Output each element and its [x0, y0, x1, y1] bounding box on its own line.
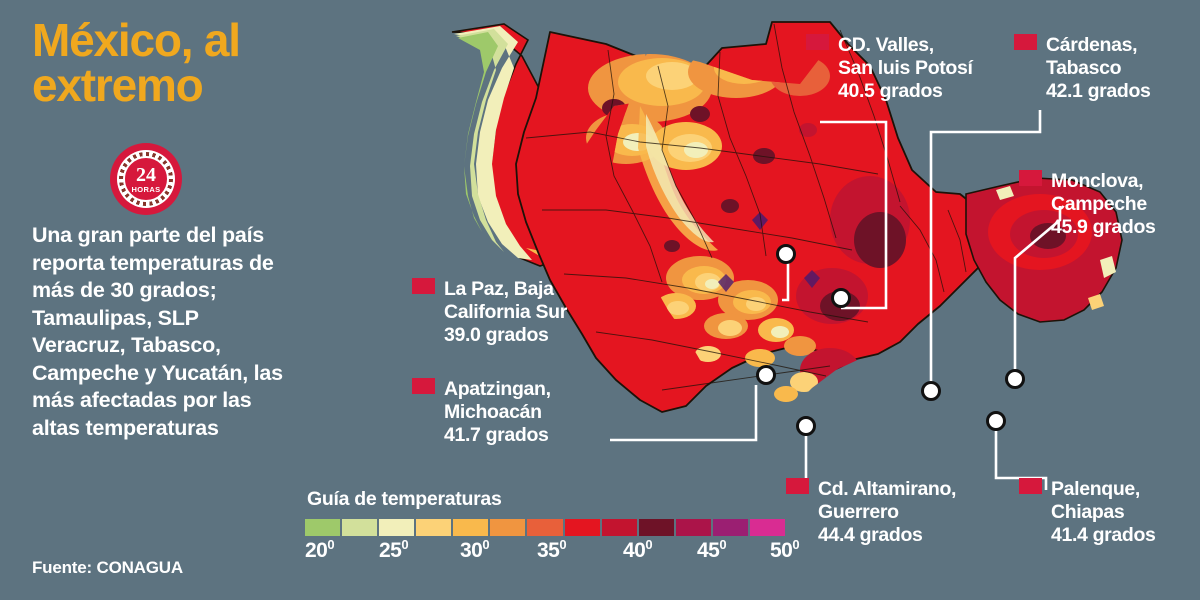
callout-line-2: 41.7 grados — [444, 424, 551, 447]
callout-cd-altamirano: Cd. Altamirano,Guerrero44.4 grados — [786, 478, 956, 546]
marker-la-paz[interactable] — [776, 244, 796, 264]
callout-line-2: 42.1 grados — [1046, 80, 1151, 103]
callout-line-2: 40.5 grados — [838, 80, 973, 103]
legend-tick-50: 500 — [770, 537, 799, 563]
logo-core: 24 HORAS — [123, 156, 169, 202]
callout-line-0: Cárdenas, — [1046, 34, 1137, 57]
callout-apatzingan: Apatzingan,Michoacán41.7 grados — [412, 378, 551, 446]
legend-swatch-1 — [342, 519, 377, 536]
callout-swatch-icon — [786, 478, 809, 494]
callout-swatch-icon — [1014, 34, 1037, 50]
page-title: México, al extremo — [32, 18, 297, 108]
callout-swatch-icon — [412, 378, 435, 394]
callout-cardenas: Cárdenas,Tabasco42.1 grados — [1014, 34, 1151, 102]
callout-line-0: Palenque, — [1051, 478, 1140, 501]
callout-line-0: Cd. Altamirano, — [818, 478, 956, 501]
marker-palenque[interactable] — [986, 411, 1006, 431]
callout-line-2: 44.4 grados — [818, 524, 956, 547]
legend-tick-45: 450 — [697, 537, 726, 563]
left-panel: México, al extremo 24 HORAS Una gran par… — [0, 0, 300, 600]
callout-line-2: 41.4 grados — [1051, 524, 1156, 547]
callout-la-paz: La Paz, BajaCalifornia Sur39.0 grados — [412, 278, 567, 346]
legend-swatch-6 — [527, 519, 562, 536]
legend-swatch-9 — [639, 519, 674, 536]
infographic-root: México, al extremo 24 HORAS Una gran par… — [0, 0, 1200, 600]
callout-line-0: Apatzingan, — [444, 378, 551, 401]
callout-line-1: California Sur — [444, 301, 567, 324]
marker-monclova[interactable] — [1005, 369, 1025, 389]
marker-cd-altamirano[interactable] — [796, 416, 816, 436]
callout-palenque: Palenque,Chiapas41.4 grados — [1019, 478, 1156, 546]
legend-color-bar — [305, 519, 785, 536]
callout-line-2: 45.9 grados — [1051, 216, 1156, 239]
legend-tick-35: 350 — [537, 537, 566, 563]
callout-line-0: Monclova, — [1051, 170, 1143, 193]
callout-cd-valles: CD. Valles,San luis Potosí40.5 grados — [806, 34, 973, 102]
marker-cardenas[interactable] — [921, 381, 941, 401]
legend-swatch-3 — [416, 519, 451, 536]
legend-swatch-5 — [490, 519, 525, 536]
source-credit: Fuente: CONAGUA — [32, 558, 183, 578]
callout-swatch-icon — [412, 278, 435, 294]
logo-word: HORAS — [131, 186, 160, 194]
legend-title: Guía de temperaturas — [307, 488, 785, 511]
legend-tick-labels: 200250300350400450500 — [305, 537, 785, 565]
marker-cd-valles[interactable] — [831, 288, 851, 308]
callout-line-2: 39.0 grados — [444, 324, 567, 347]
legend-swatch-4 — [453, 519, 488, 536]
legend-swatch-8 — [602, 519, 637, 536]
legend-swatch-10 — [676, 519, 711, 536]
legend-tick-30: 300 — [460, 537, 489, 563]
legend-tick-20: 200 — [305, 537, 334, 563]
logo-24-horas: 24 HORAS — [110, 143, 182, 215]
callout-swatch-icon — [1019, 170, 1042, 186]
logo-number: 24 — [136, 165, 156, 185]
legend-tick-25: 250 — [379, 537, 408, 563]
marker-apatzingan[interactable] — [756, 365, 776, 385]
temperature-legend: Guía de temperaturas 2002503003504004505… — [305, 488, 785, 565]
legend-swatch-2 — [379, 519, 414, 536]
lede-paragraph: Una gran parte del país reporta temperat… — [32, 222, 294, 442]
callout-swatch-icon — [1019, 478, 1042, 494]
legend-swatch-7 — [565, 519, 600, 536]
legend-swatch-12 — [750, 519, 785, 536]
callout-line-1: Tabasco — [1046, 57, 1151, 80]
callout-swatch-icon — [806, 34, 829, 50]
callout-line-1: San luis Potosí — [838, 57, 973, 80]
callout-line-1: Chiapas — [1051, 501, 1156, 524]
legend-tick-40: 400 — [623, 537, 652, 563]
callout-line-1: Guerrero — [818, 501, 956, 524]
legend-swatch-0 — [305, 519, 340, 536]
callout-line-0: CD. Valles, — [838, 34, 934, 57]
legend-swatch-11 — [713, 519, 748, 536]
callout-line-1: Michoacán — [444, 401, 551, 424]
callout-line-1: Campeche — [1051, 193, 1156, 216]
callout-monclova: Monclova,Campeche45.9 grados — [1019, 170, 1156, 238]
callout-line-0: La Paz, Baja — [444, 278, 554, 301]
